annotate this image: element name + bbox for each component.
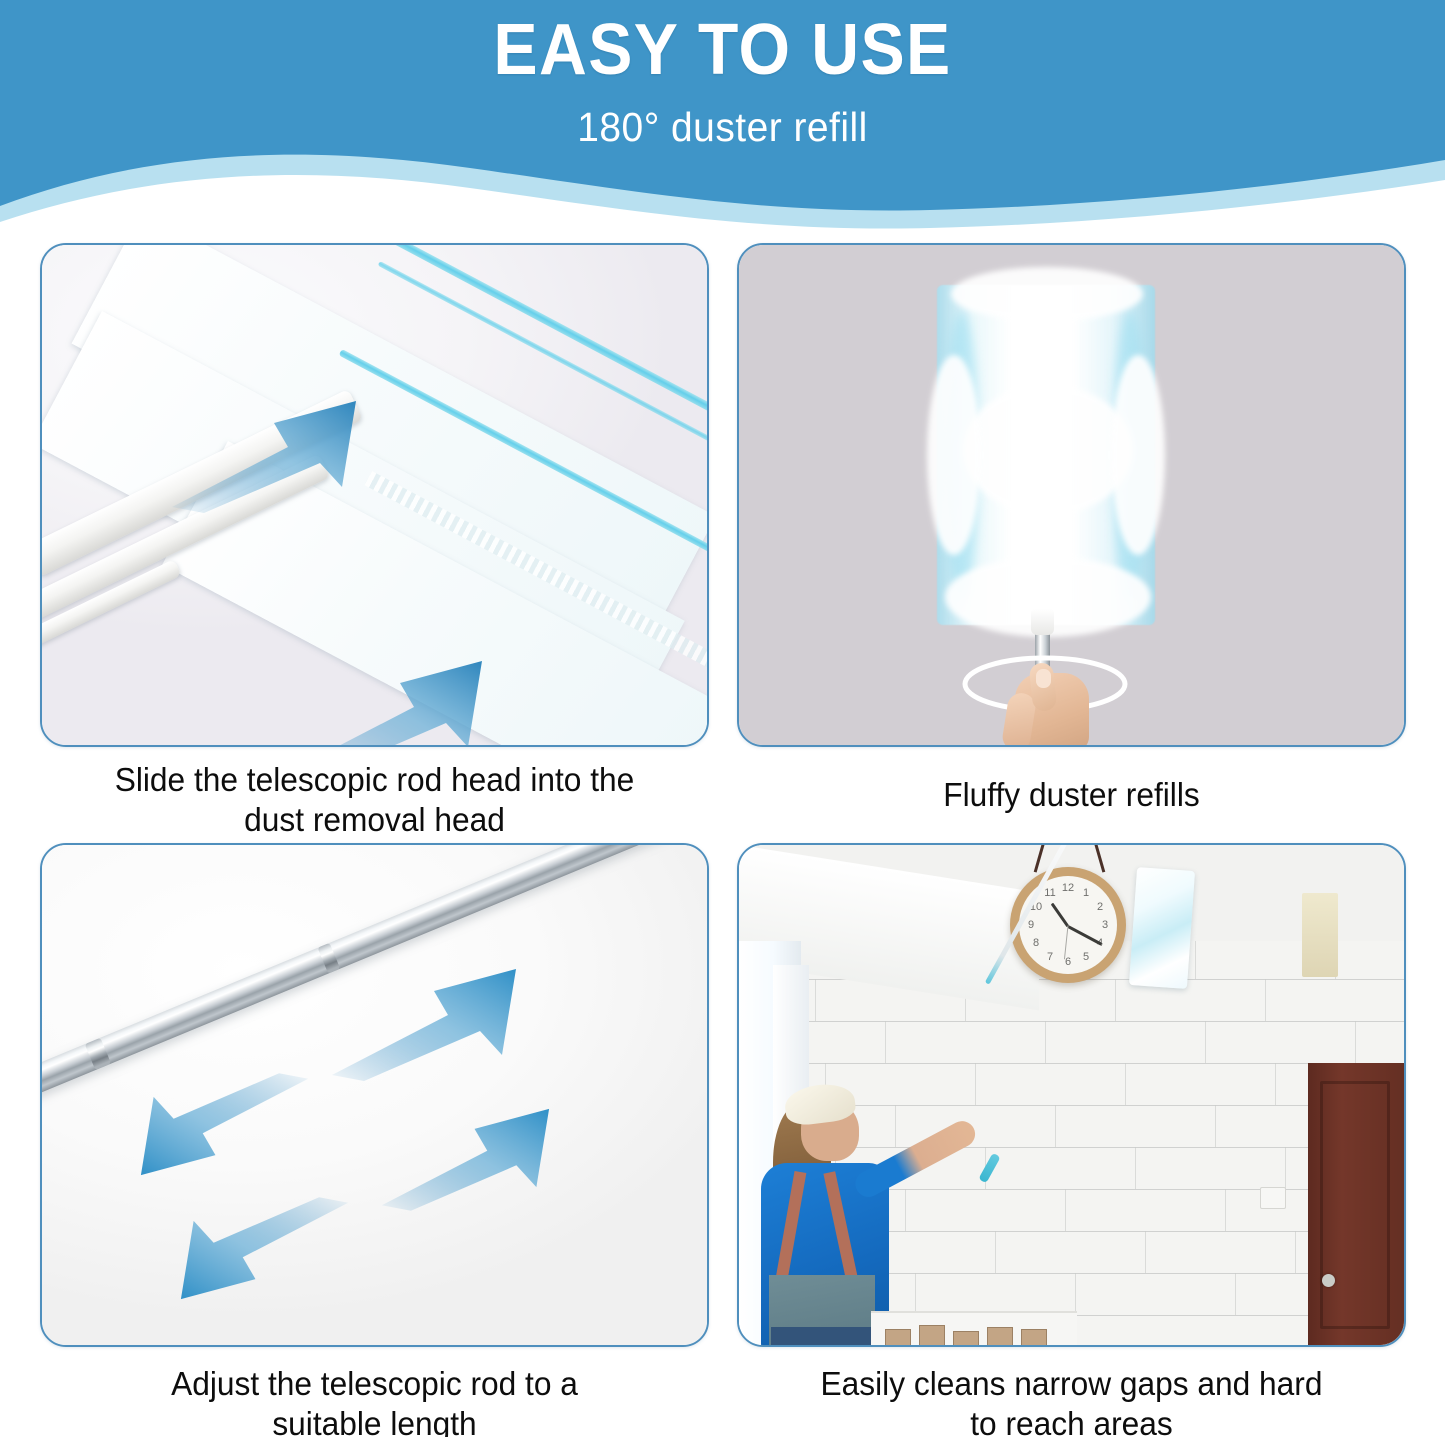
panel-3-photo — [40, 843, 709, 1347]
duster-fluff-left — [927, 355, 981, 555]
clock-number: 12 — [1060, 881, 1076, 895]
retract-arrow-upper-left — [110, 1071, 310, 1181]
panel-4-caption-line1: Easily cleans narrow gaps and hard — [750, 1364, 1392, 1404]
extend-arrow-upper-right — [330, 963, 550, 1083]
clock-number: 2 — [1092, 900, 1108, 914]
clock-number: 5 — [1078, 950, 1094, 964]
clock-number: 6 — [1060, 955, 1076, 969]
panel-4-caption: Easily cleans narrow gaps and hard to re… — [750, 1364, 1392, 1437]
panel-1-caption-line2: dust removal head — [53, 800, 695, 840]
clock-face: 12 1 2 3 4 5 6 7 8 9 10 11 — [1019, 876, 1117, 974]
wall-outlet — [1260, 1187, 1286, 1209]
shelf-item — [1021, 1329, 1047, 1347]
header-banner: EASY TO USE 180° duster refill — [0, 0, 1445, 240]
duster-fluff-right — [1111, 355, 1165, 555]
shelf-item — [953, 1331, 979, 1347]
page-subtitle: 180° duster refill — [36, 104, 1409, 151]
floor-shelf — [871, 1311, 1077, 1347]
infographic-page: EASY TO USE 180° duster refill — [0, 0, 1445, 1437]
clock-number: 9 — [1023, 918, 1039, 932]
panel-3-caption-line1: Adjust the telescopic rod to a — [53, 1364, 695, 1404]
clock-number: 11 — [1042, 886, 1058, 900]
door-panel — [1320, 1081, 1390, 1329]
direction-arrow-1 — [170, 395, 390, 515]
hand-fingernail — [1036, 669, 1051, 688]
panel-2-caption-line1: Fluffy duster refills — [750, 775, 1392, 815]
clock-number: 8 — [1028, 936, 1044, 950]
duster-fluff-top — [951, 267, 1143, 321]
retract-arrow-lower-left — [150, 1195, 350, 1305]
rod-joint-outer — [85, 1038, 111, 1070]
shelf-item — [987, 1327, 1013, 1347]
shelf-item — [885, 1329, 911, 1347]
panel-4-caption-line2: to reach areas — [750, 1404, 1392, 1437]
panel-2-caption: Fluffy duster refills — [750, 775, 1392, 815]
panel-1-caption-line1: Slide the telescopic rod head into the — [53, 760, 695, 800]
panel-3-caption: Adjust the telescopic rod to a suitable … — [53, 1364, 695, 1437]
direction-arrow-2 — [296, 655, 516, 747]
wall-mounted-box — [1302, 893, 1338, 977]
panel-1-caption: Slide the telescopic rod head into the d… — [53, 760, 695, 841]
clock-number: 3 — [1097, 918, 1113, 932]
woman-jeans — [771, 1327, 873, 1347]
wooden-door — [1308, 1063, 1404, 1347]
clock-number: 1 — [1078, 886, 1094, 900]
page-title: EASY TO USE — [58, 14, 1387, 86]
duster-rod-white-collar — [1031, 609, 1054, 635]
duster-head-in-use — [1129, 867, 1195, 989]
clock-hour-hand — [1051, 903, 1070, 928]
panel-4-photo: 12 1 2 3 4 5 6 7 8 9 10 11 — [737, 843, 1406, 1347]
panel-3-caption-line2: suitable length — [53, 1404, 695, 1437]
panel-1-photo — [40, 243, 709, 747]
door-knob — [1322, 1274, 1335, 1287]
extend-arrow-lower-right — [380, 1103, 580, 1213]
duster-fluff-center — [963, 385, 1133, 515]
wall-clock: 12 1 2 3 4 5 6 7 8 9 10 11 — [1010, 867, 1126, 983]
panel-2-photo — [737, 243, 1406, 747]
clock-number: 7 — [1042, 950, 1058, 964]
shelf-item — [919, 1325, 945, 1347]
